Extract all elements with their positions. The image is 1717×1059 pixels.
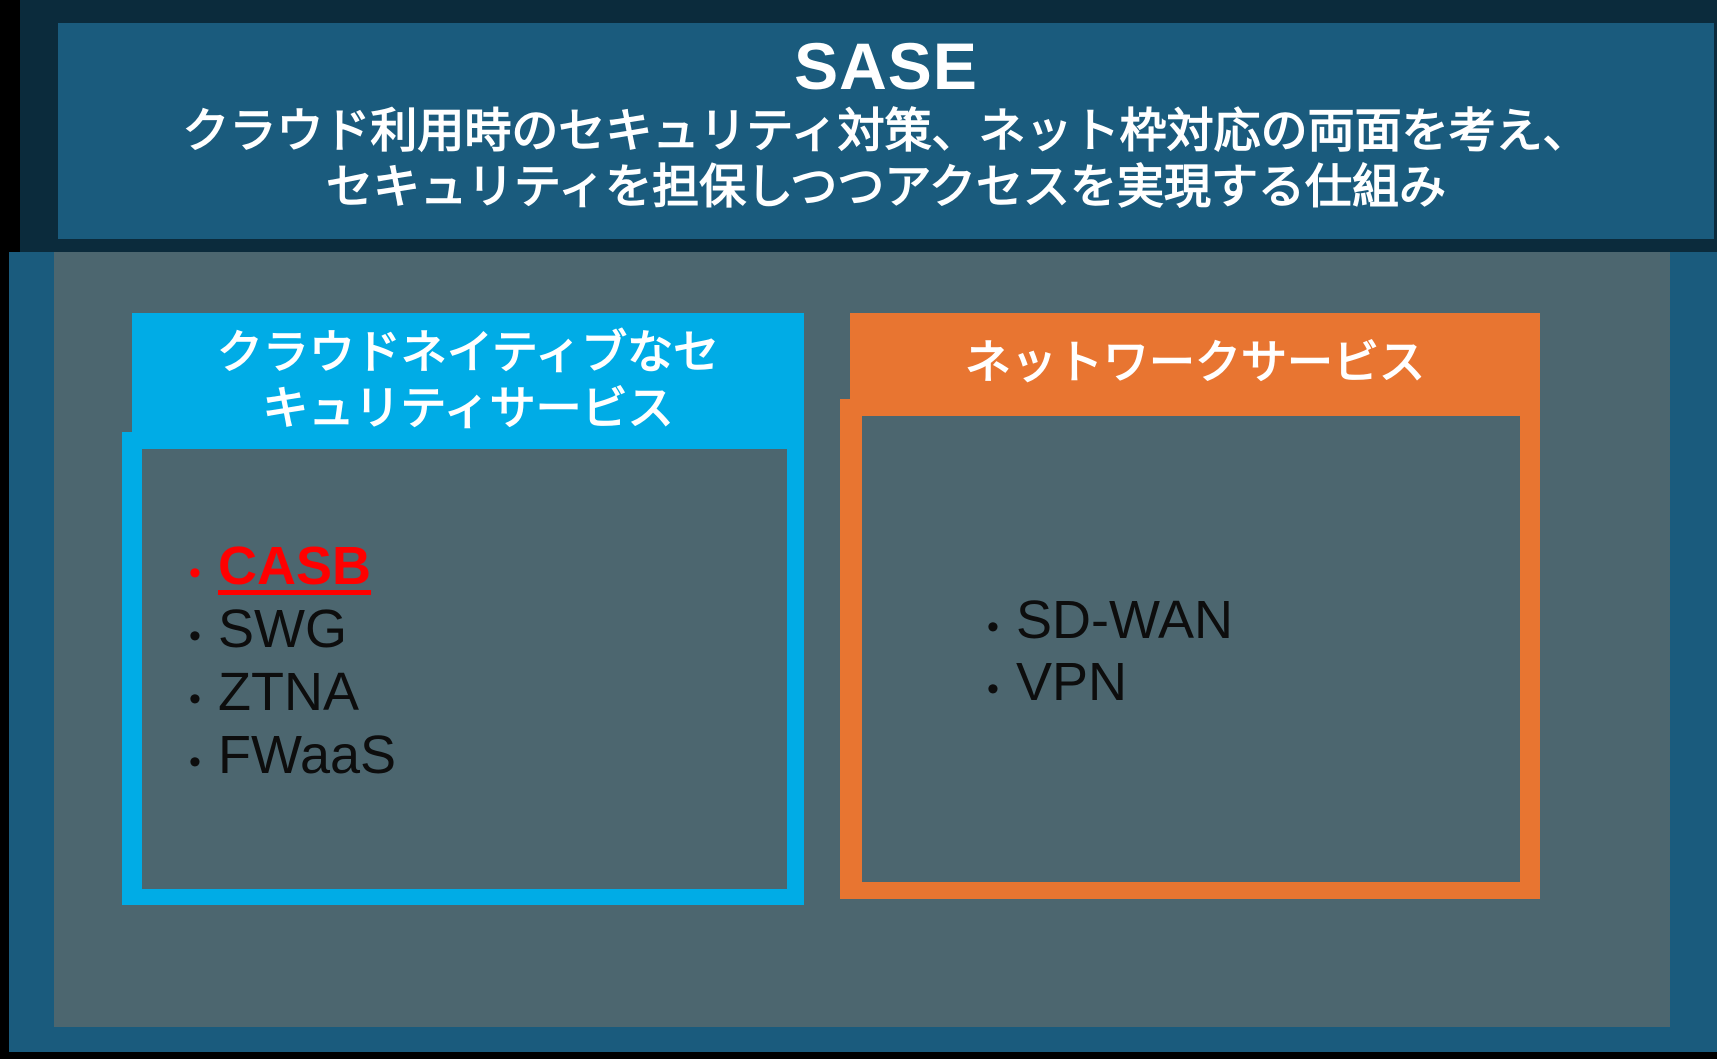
diagram-canvas: SASE クラウド利用時のセキュリティ対策、ネット枠対応の両面を考え、 セキュリ… <box>0 0 1717 1059</box>
sase-header-box: SASE クラウド利用時のセキュリティ対策、ネット枠対応の両面を考え、 セキュリ… <box>20 0 1717 252</box>
service-list-network-service: • SD-WAN • VPN <box>970 589 1233 713</box>
list-item[interactable]: • VPN <box>970 651 1233 713</box>
list-item[interactable]: • CASB <box>172 535 396 597</box>
card-header-cloud-security: クラウドネイティブなセ キュリティサービス <box>132 313 804 443</box>
header-subtitle-line-1: クラウド利用時のセキュリティ対策、ネット枠対応の両面を考え、 <box>182 103 1589 159</box>
list-item[interactable]: • ZTNA <box>172 661 396 723</box>
card-header-line-1: ネットワークサービス <box>965 334 1425 390</box>
list-item-label: SWG <box>218 598 347 660</box>
card-header-line-2: キュリティサービス <box>262 380 673 436</box>
bullet-icon: • <box>970 610 1016 644</box>
bullet-icon: • <box>172 745 218 779</box>
bullet-icon: • <box>970 672 1016 706</box>
page-title: SASE <box>794 29 978 103</box>
bullet-icon: • <box>172 556 218 590</box>
list-item[interactable]: • FWaaS <box>172 724 396 786</box>
list-item[interactable]: • SD-WAN <box>970 589 1233 651</box>
card-header-network-service: ネットワークサービス <box>850 313 1540 410</box>
list-item-label: FWaaS <box>218 724 396 786</box>
list-item-label: ZTNA <box>218 661 359 723</box>
card-cloud-native-security[interactable]: クラウドネイティブなセ キュリティサービス • CASB • SWG • ZTN… <box>122 313 822 905</box>
bullet-icon: • <box>172 619 218 653</box>
list-item-label: CASB <box>218 535 371 597</box>
card-header-line-1: クラウドネイティブなセ <box>217 324 719 380</box>
list-item-label: VPN <box>1016 651 1127 713</box>
header-subtitle-line-2: セキュリティを担保しつつアクセスを実現する仕組み <box>326 159 1446 215</box>
bullet-icon: • <box>172 682 218 716</box>
service-list-cloud-security: • CASB • SWG • ZTNA • FWaaS <box>172 535 396 787</box>
list-item[interactable]: • SWG <box>172 598 396 660</box>
list-item-label: SD-WAN <box>1016 589 1233 651</box>
sase-header-inner: SASE クラウド利用時のセキュリティ対策、ネット枠対応の両面を考え、 セキュリ… <box>51 16 1717 246</box>
card-network-service[interactable]: ネットワークサービス • SD-WAN • VPN <box>840 313 1540 899</box>
